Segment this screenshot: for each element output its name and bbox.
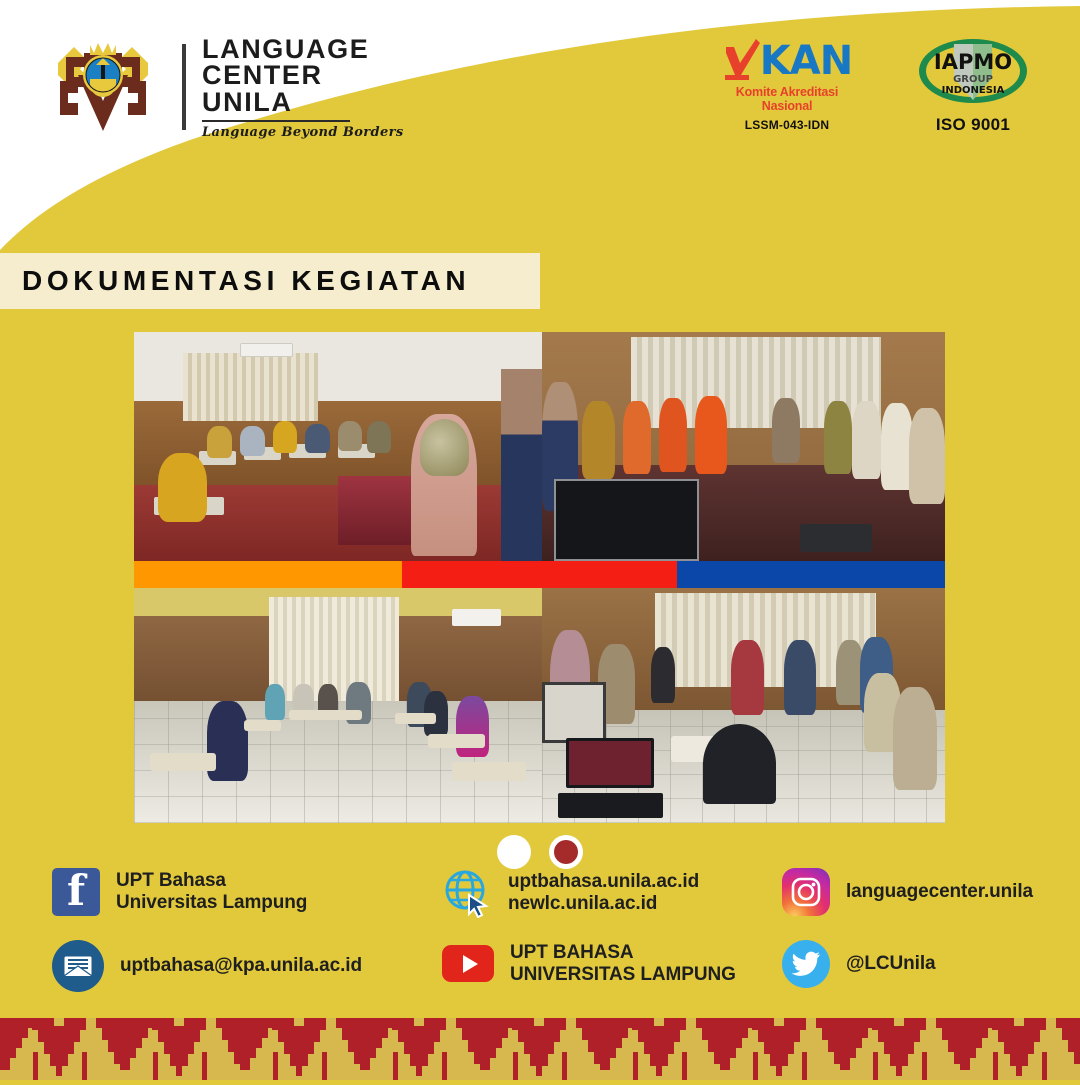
- laptop-keyboard: [558, 793, 663, 819]
- instagram-label: languagecenter.unila: [846, 881, 1033, 903]
- seated-participant: [731, 640, 763, 715]
- person-foreground-right: [501, 369, 542, 561]
- seated-participant: [305, 424, 329, 454]
- kan-subtitle: Komite Akreditasi Nasional: [712, 85, 862, 113]
- desk: [428, 734, 485, 748]
- air-conditioner-icon: [240, 343, 293, 357]
- divider-segment-red: [402, 561, 678, 588]
- youtube-label: UPT BAHASA UNIVERSITAS LAMPUNG: [510, 942, 736, 985]
- seated-participant: [824, 401, 852, 474]
- contact-twitter[interactable]: @LCUnila: [782, 940, 1080, 988]
- email-icon: [52, 940, 104, 992]
- pagination-dot-2-active[interactable]: [549, 835, 583, 869]
- seated-participant: [659, 398, 687, 471]
- laptop: [558, 738, 663, 818]
- facebook-icon: [52, 868, 100, 916]
- photo-scene: [134, 588, 542, 823]
- photo-gallery: [134, 332, 945, 823]
- seated-participant: [623, 401, 651, 474]
- desk: [150, 753, 215, 772]
- seated-participant: [338, 421, 362, 451]
- desktop-monitor: [542, 682, 606, 743]
- kan-check-icon: [722, 39, 762, 83]
- pagination-dot-1[interactable]: [497, 835, 531, 869]
- certification-logos: KAN Komite Akreditasi Nasional LSSM-043-…: [712, 38, 1032, 135]
- seated-participant: [456, 696, 489, 757]
- tapis-top-strip: [0, 1008, 1080, 1018]
- footer-contacts: UPT Bahasa Universitas Lampung uptbahasa…: [0, 868, 1080, 1003]
- air-conditioner-icon: [452, 609, 501, 625]
- seated-participant: [582, 401, 614, 479]
- desk: [289, 710, 362, 719]
- desk: [244, 720, 281, 732]
- seated-participant: [784, 640, 816, 715]
- tapis-border: [0, 1008, 1080, 1080]
- facebook-line-2: Universitas Lampung: [116, 892, 307, 914]
- gallery-row-top: [134, 332, 945, 561]
- seated-participant: [273, 421, 297, 453]
- brand-text: LANGUAGE CENTER UNILA Language Beyond Bo…: [202, 34, 404, 140]
- svg-text:INDONESIA: INDONESIA: [942, 85, 1005, 96]
- seated-participant: [881, 403, 913, 490]
- contact-website[interactable]: uptbahasa.unila.ac.id newlc.unila.ac.id: [442, 868, 782, 918]
- brand-line-1: LANGUAGE: [202, 36, 404, 62]
- laptop-screen: [566, 738, 654, 788]
- seated-participant-front: [158, 453, 207, 522]
- seated-participant: [695, 396, 727, 474]
- iapmo-certification-logo: IAPMO GROUP INDONESIA ISO 9001: [914, 38, 1032, 135]
- brand-line-3: UNILA: [202, 89, 404, 115]
- brand-divider: [182, 44, 186, 130]
- gallery-photo-top-right[interactable]: [542, 332, 945, 561]
- twitter-label: @LCUnila: [846, 953, 936, 975]
- projector: [800, 524, 873, 551]
- seated-participant: [265, 684, 285, 719]
- gallery-divider-bar: [134, 561, 945, 588]
- instagram-handle: languagecenter.unila: [846, 881, 1033, 903]
- twitter-icon: [782, 940, 830, 988]
- instagram-icon: [782, 868, 830, 916]
- email-address: uptbahasa@kpa.unila.ac.id: [120, 955, 362, 977]
- desk: [395, 713, 436, 725]
- seated-participant: [893, 687, 937, 790]
- globe-icon: [442, 868, 492, 918]
- iso-standard-label: ISO 9001: [914, 115, 1032, 135]
- facebook-line-1: UPT Bahasa: [116, 870, 307, 892]
- seated-participant: [651, 647, 675, 703]
- kan-accreditation-code: LSSM-043-IDN: [712, 118, 862, 132]
- gallery-photo-bottom-right[interactable]: [542, 588, 945, 823]
- curtain: [183, 353, 318, 422]
- brand-block: LANGUAGE CENTER UNILA Language Beyond Bo…: [44, 34, 404, 140]
- photo-scene: [134, 332, 542, 561]
- footer-column-3: languagecenter.unila @LCUnila: [782, 868, 1080, 1003]
- brand-tagline: Language Beyond Borders: [202, 125, 404, 140]
- unila-crest-icon: [44, 35, 162, 139]
- contact-instagram[interactable]: languagecenter.unila: [782, 868, 1080, 916]
- tapis-pattern-svg: [0, 1008, 1080, 1080]
- footer-column-2: uptbahasa.unila.ac.id newlc.unila.ac.id …: [442, 868, 782, 1003]
- youtube-icon: [442, 945, 494, 982]
- gallery-row-bottom: [134, 588, 945, 823]
- divider-segment-orange: [134, 561, 402, 588]
- youtube-line-2: UNIVERSITAS LAMPUNG: [510, 964, 736, 986]
- seated-participant: [207, 426, 231, 458]
- brand-line-2: CENTER: [202, 62, 404, 88]
- seated-participant: [909, 408, 945, 504]
- svg-text:GROUP: GROUP: [953, 74, 993, 85]
- envelope-glyph: [63, 955, 93, 977]
- display-screen: [554, 479, 699, 561]
- title-banner: DOKUMENTASI KEGIATAN: [0, 253, 540, 309]
- photo-scene: [542, 332, 945, 561]
- website-label: uptbahasa.unila.ac.id newlc.unila.ac.id: [508, 871, 699, 914]
- seated-participant: [367, 421, 391, 453]
- website-line-2: newlc.unila.ac.id: [508, 893, 699, 915]
- kan-wordmark: KAN: [760, 43, 852, 79]
- photo-scene: [542, 588, 945, 823]
- desk: [452, 762, 525, 781]
- seated-participant: [852, 401, 880, 479]
- chair: [703, 724, 776, 804]
- header-area: LANGUAGE CENTER UNILA Language Beyond Bo…: [0, 0, 1080, 250]
- kan-mark: KAN: [712, 38, 862, 84]
- contact-facebook[interactable]: UPT Bahasa Universitas Lampung: [52, 868, 442, 916]
- instagram-glyph: [791, 877, 821, 907]
- page-title: DOKUMENTASI KEGIATAN: [22, 265, 470, 297]
- youtube-line-1: UPT BAHASA: [510, 942, 736, 964]
- gallery-photo-top-left[interactable]: [134, 332, 542, 561]
- website-line-1: uptbahasa.unila.ac.id: [508, 871, 699, 893]
- twitter-bird-glyph: [791, 951, 821, 977]
- presenter-headscarf: [420, 419, 469, 476]
- divider-segment-blue: [677, 561, 945, 588]
- svg-text:IAPMO: IAPMO: [934, 50, 1012, 74]
- brand-rule: [202, 120, 350, 122]
- twitter-handle: @LCUnila: [846, 953, 936, 975]
- seated-participant: [240, 426, 264, 456]
- contact-youtube[interactable]: UPT BAHASA UNIVERSITAS LAMPUNG: [442, 942, 782, 985]
- footer-column-1: UPT Bahasa Universitas Lampung uptbahasa…: [52, 868, 442, 1003]
- email-label: uptbahasa@kpa.unila.ac.id: [120, 955, 362, 977]
- seated-participant: [772, 398, 800, 462]
- globe-glyph: [442, 868, 492, 918]
- contact-email[interactable]: uptbahasa@kpa.unila.ac.id: [52, 940, 442, 992]
- facebook-label: UPT Bahasa Universitas Lampung: [116, 870, 307, 913]
- kan-certification-logo: KAN Komite Akreditasi Nasional LSSM-043-…: [712, 38, 862, 132]
- gallery-photo-bottom-left[interactable]: [134, 588, 542, 823]
- iapmo-shield-icon: IAPMO GROUP INDONESIA: [918, 38, 1028, 106]
